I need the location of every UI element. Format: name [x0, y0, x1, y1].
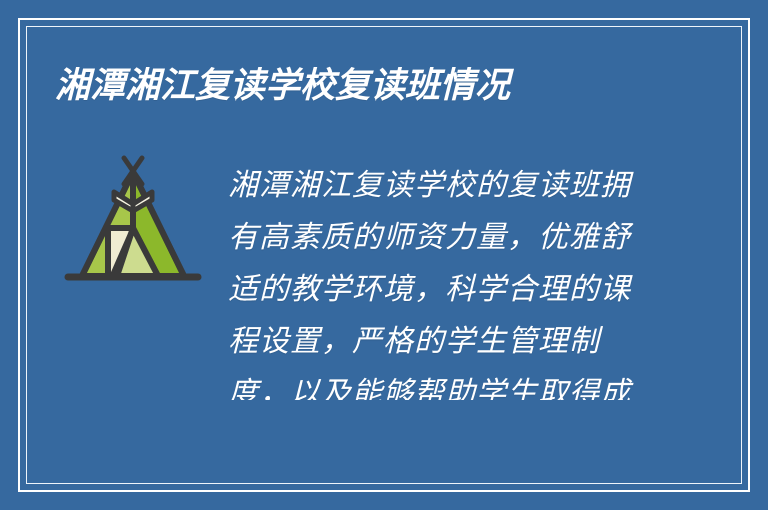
teepee-tent-icon: [62, 152, 204, 292]
body-paragraph: 湘潭湘江复读学校的复读班拥有高素质的师资力量，优雅舒适的教学环境，科学合理的课程…: [228, 160, 648, 400]
poster-canvas: 湘潭湘江复读学校复读班情况 湘潭湘江复读学校的复读班拥有高素质的师资力量，优雅舒: [0, 0, 768, 510]
page-title: 湘潭湘江复读学校复读班情况: [55, 62, 695, 110]
